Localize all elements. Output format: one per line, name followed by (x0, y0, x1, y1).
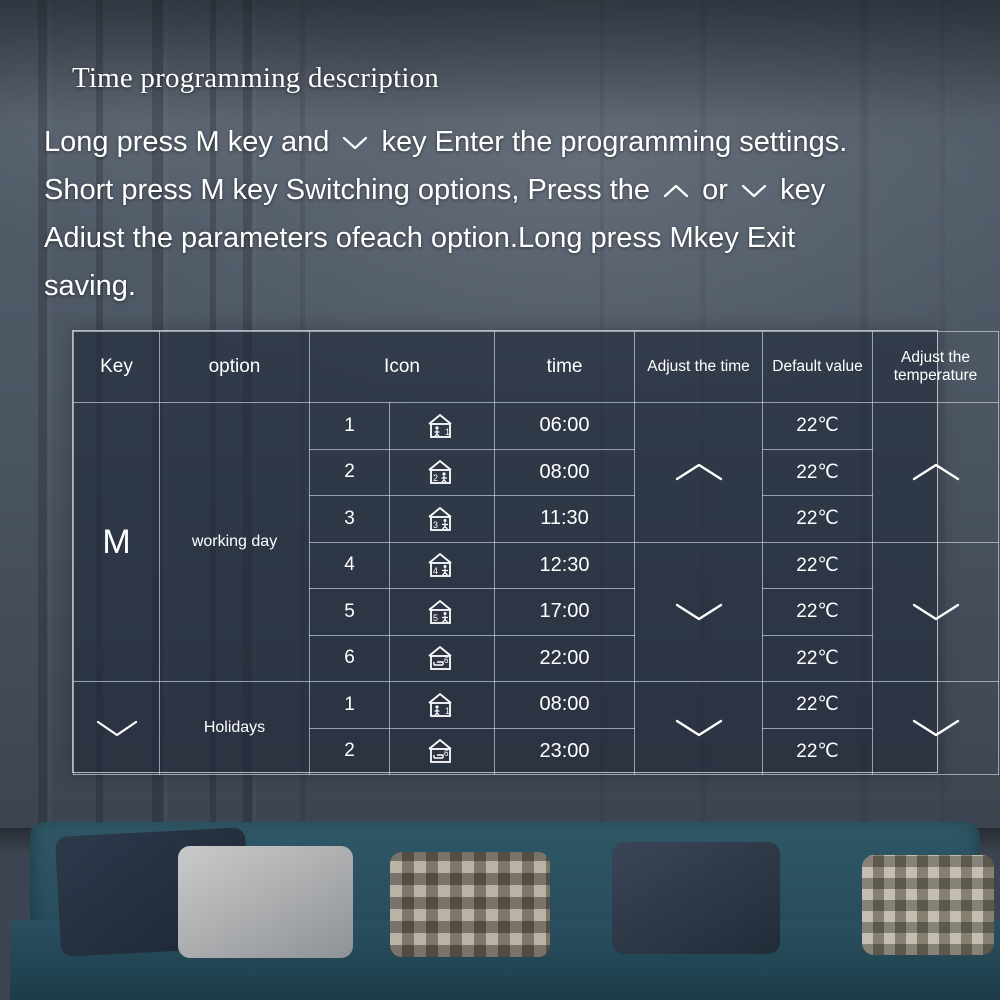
chevron-up-icon (661, 181, 691, 201)
svg-text:3: 3 (433, 520, 438, 530)
instruction-line-4: saving. (44, 270, 136, 302)
time-value: 22:00 (495, 635, 635, 682)
instruction-line-1-pre: Long press M key and (44, 126, 337, 158)
programming-table-panel: Key option Icon time Adjust the time Def… (72, 330, 938, 773)
default-temperature: 22℃ (763, 589, 873, 636)
adjust-temperature-down-button[interactable] (873, 542, 999, 682)
instruction-line-2-post: key (772, 174, 825, 206)
slot-number: 3 (310, 496, 390, 543)
slot-number: 4 (310, 542, 390, 589)
default-temperature: 22℃ (763, 635, 873, 682)
svg-text:6: 6 (444, 656, 449, 665)
house-person-5-icon: 5 (390, 589, 495, 636)
header-option: option (160, 332, 310, 403)
time-value: 08:00 (495, 449, 635, 496)
key-down-button[interactable] (74, 682, 160, 775)
house-person-1-icon: 1 (390, 682, 495, 729)
time-value: 12:30 (495, 542, 635, 589)
house-bed-6-icon: 6 (390, 728, 495, 775)
slot-number: 5 (310, 589, 390, 636)
time-value: 08:00 (495, 682, 635, 729)
slot-number: 1 (310, 682, 390, 729)
default-temperature: 22℃ (763, 728, 873, 775)
house-bed-6-icon: 6 (390, 635, 495, 682)
chevron-down-icon (340, 133, 370, 153)
adjust-time-down-button-holidays[interactable] (635, 682, 763, 775)
svg-text:4: 4 (433, 566, 438, 576)
house-person-3-icon: 3 (390, 496, 495, 543)
default-temperature: 22℃ (763, 403, 873, 450)
option-working-day: working day (160, 403, 310, 682)
table-header-row: Key option Icon time Adjust the time Def… (74, 332, 999, 403)
key-m-label: M (74, 403, 160, 682)
time-value: 23:00 (495, 728, 635, 775)
house-person-4-icon: 4 (390, 542, 495, 589)
house-person-2-icon: 2 (390, 449, 495, 496)
slot-number: 2 (310, 728, 390, 775)
instruction-line-3: Adiust the parameters ofeach option.Long… (44, 222, 795, 254)
adjust-time-up-button[interactable] (635, 403, 763, 543)
svg-text:1: 1 (445, 706, 450, 716)
instruction-line-2-mid: or (694, 174, 736, 206)
svg-text:5: 5 (433, 613, 438, 623)
programming-table: Key option Icon time Adjust the time Def… (73, 331, 999, 775)
house-person-1-icon: 1 (390, 403, 495, 450)
table-row: Holidays 1 1 08:00 22℃ (74, 682, 999, 729)
table-row: M working day 1 1 06:00 (74, 403, 999, 450)
slot-number: 1 (310, 403, 390, 450)
instruction-line-1-post: key Enter the programming settings. (373, 126, 847, 158)
time-value: 17:00 (495, 589, 635, 636)
svg-text:2: 2 (433, 473, 438, 483)
instructions-paragraph: Long press M key and key Enter the progr… (44, 118, 1000, 310)
header-adjust-temperature: Adjust the temperature (873, 332, 999, 403)
slot-number: 2 (310, 449, 390, 496)
option-holidays: Holidays (160, 682, 310, 775)
adjust-time-down-button[interactable] (635, 542, 763, 682)
svg-text:6: 6 (444, 749, 449, 758)
header-key: Key (74, 332, 160, 403)
instruction-line-2-pre: Short press M key Switching options, Pre… (44, 174, 658, 206)
default-temperature: 22℃ (763, 449, 873, 496)
header-icon: Icon (310, 332, 495, 403)
default-temperature: 22℃ (763, 542, 873, 589)
adjust-temperature-down-button-holidays[interactable] (873, 682, 999, 775)
header-default-value: Default value (763, 332, 873, 403)
default-temperature: 22℃ (763, 496, 873, 543)
time-value: 11:30 (495, 496, 635, 543)
page-title: Time programming description (72, 62, 439, 95)
header-adjust-time: Adjust the time (635, 332, 763, 403)
slot-number: 6 (310, 635, 390, 682)
header-time: time (495, 332, 635, 403)
chevron-down-icon (739, 181, 769, 201)
default-temperature: 22℃ (763, 682, 873, 729)
adjust-temperature-up-button[interactable] (873, 403, 999, 543)
time-value: 06:00 (495, 403, 635, 450)
svg-text:1: 1 (445, 427, 450, 437)
